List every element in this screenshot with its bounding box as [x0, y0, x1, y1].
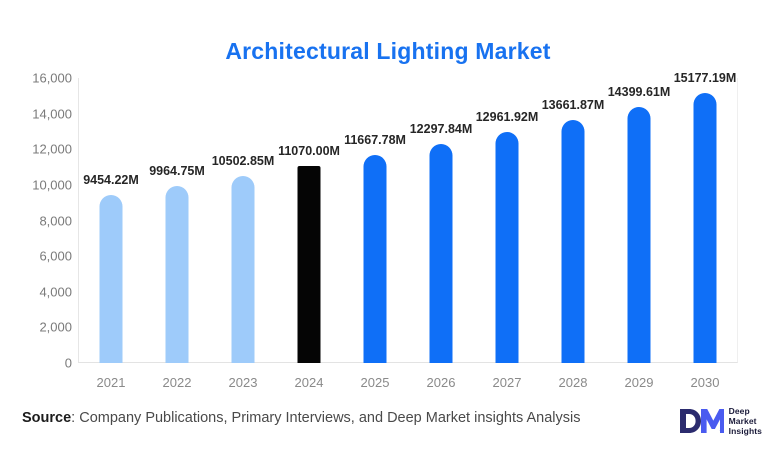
x-axis-tick-2028: 2028	[540, 375, 606, 390]
bar-2022[interactable]	[166, 186, 189, 363]
bar-value-label: 9964.75M	[149, 164, 205, 178]
bar-value-label: 12961.92M	[476, 110, 539, 124]
bar-value-label: 9454.22M	[83, 173, 139, 187]
bar-value-label: 11070.00M	[278, 144, 340, 158]
x-axis-tick-2026: 2026	[408, 375, 474, 390]
brand-name: Deep Market Insights	[729, 406, 762, 436]
bar-group: 12961.92M	[474, 78, 540, 363]
bar-group: 13661.87M	[540, 78, 606, 363]
y-axis-tick: 16,000	[8, 71, 72, 86]
source-text: : Company Publications, Primary Intervie…	[71, 410, 580, 426]
bar-group: 11070.00M	[276, 78, 342, 363]
bar-value-label: 10502.85M	[212, 154, 275, 168]
y-axis-tick: 2,000	[8, 320, 72, 335]
brand-line-2: Market	[729, 416, 762, 426]
bar-group: 10502.85M	[210, 78, 276, 363]
footer: Source: Company Publications, Primary In…	[0, 400, 776, 472]
bar-value-label: 15177.19M	[674, 71, 737, 85]
bar-value-label: 12297.84M	[410, 122, 473, 136]
chart-page: Architectural Lighting Market 02,0004,00…	[0, 0, 776, 472]
bar-value-label: 14399.61M	[608, 85, 671, 99]
x-axis-tick-2025: 2025	[342, 375, 408, 390]
bar-group: 15177.19M	[672, 78, 738, 363]
x-axis-tick-2022: 2022	[144, 375, 210, 390]
bar-2021[interactable]	[100, 195, 123, 363]
y-axis-tick: 8,000	[8, 213, 72, 228]
bar-2024[interactable]	[298, 166, 321, 363]
bar-2026[interactable]	[430, 144, 453, 363]
x-axis-tick-2023: 2023	[210, 375, 276, 390]
x-axis: 2021202220232024202520262027202820292030	[78, 363, 738, 393]
bar-group: 11667.78M	[342, 78, 408, 363]
brand-line-1: Deep	[729, 406, 762, 416]
y-axis-tick: 10,000	[8, 177, 72, 192]
source-label: Source	[22, 410, 71, 426]
bar-2023[interactable]	[232, 176, 255, 363]
dm-monogram-icon	[678, 406, 724, 436]
bar-2028[interactable]	[562, 120, 585, 363]
bar-2025[interactable]	[364, 155, 387, 363]
x-axis-tick-2027: 2027	[474, 375, 540, 390]
bar-2030[interactable]	[694, 93, 717, 363]
y-axis-tick: 0	[8, 356, 72, 371]
x-axis-tick-2024: 2024	[276, 375, 342, 390]
bar-group: 12297.84M	[408, 78, 474, 363]
bar-2027[interactable]	[496, 132, 519, 363]
bar-value-label: 11667.78M	[344, 133, 406, 147]
y-axis-tick: 12,000	[8, 142, 72, 157]
bar-group: 9454.22M	[78, 78, 144, 363]
brand-logo: Deep Market Insights	[678, 406, 762, 436]
bar-2029[interactable]	[628, 107, 651, 363]
x-axis-tick-2030: 2030	[672, 375, 738, 390]
bar-value-label: 13661.87M	[542, 98, 605, 112]
source-note: Source: Company Publications, Primary In…	[22, 410, 581, 426]
x-axis-tick-2021: 2021	[78, 375, 144, 390]
bar-group: 14399.61M	[606, 78, 672, 363]
y-axis-tick: 4,000	[8, 284, 72, 299]
page-title: Architectural Lighting Market	[0, 38, 776, 65]
x-axis-tick-2029: 2029	[606, 375, 672, 390]
bar-group: 9964.75M	[144, 78, 210, 363]
y-axis-tick: 6,000	[8, 249, 72, 264]
bar-series: 9454.22M9964.75M10502.85M11070.00M11667.…	[78, 78, 738, 363]
y-axis-tick: 14,000	[8, 106, 72, 121]
brand-line-3: Insights	[729, 426, 762, 436]
